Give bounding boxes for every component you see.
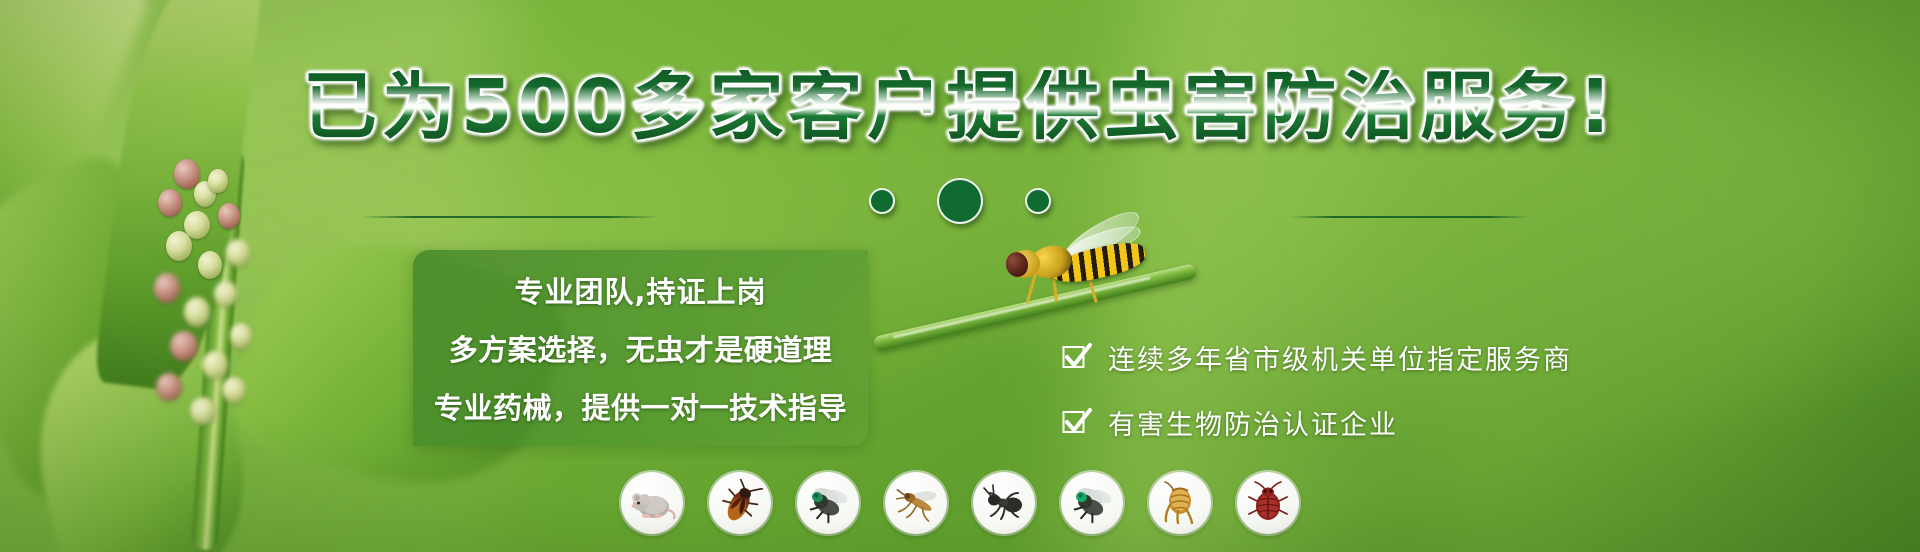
vignette-overlay <box>0 0 1920 552</box>
pest-control-hero-banner: 已为500多家客户提供虫害防治服务! 专业团队,持证上岗 多方案选择，无虫才是硬… <box>0 0 1920 552</box>
